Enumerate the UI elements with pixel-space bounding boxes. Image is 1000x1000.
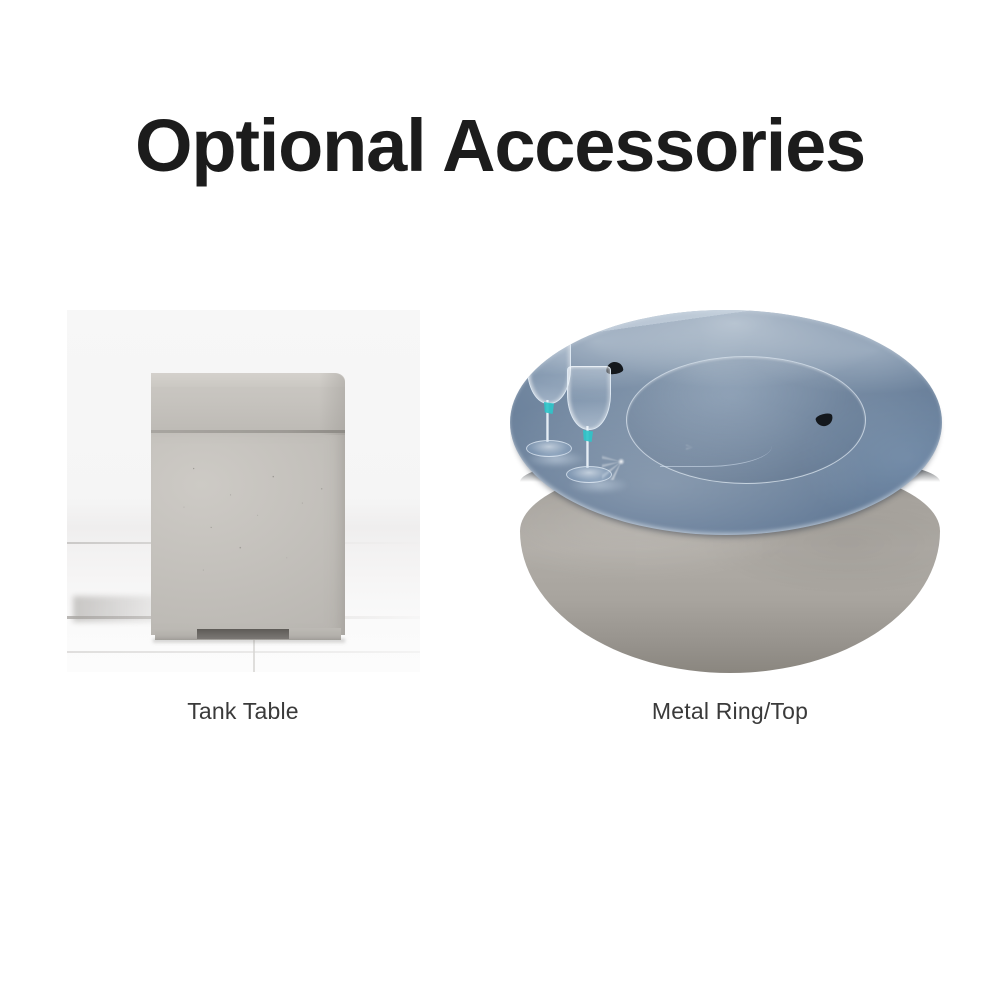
page-title: Optional Accessories xyxy=(0,104,1000,188)
tank-table-lid-bevel xyxy=(319,373,345,435)
floor-seam xyxy=(67,651,420,653)
wine-glass-foot xyxy=(566,466,612,483)
tank-table-body xyxy=(151,432,345,635)
metal-ring-top-product-image[interactable] xyxy=(510,300,950,680)
tank-table-plinth-recess xyxy=(197,629,289,639)
wine-glass-foot xyxy=(526,440,572,457)
metal-ring-top-disc xyxy=(510,310,942,535)
accessories-gallery: Tank Table xyxy=(0,300,1000,760)
concrete-speckle-texture xyxy=(151,432,345,635)
wine-glass-tag xyxy=(583,430,593,442)
tank-table-lid-top-face xyxy=(151,373,345,387)
floor-seam-vertical xyxy=(253,640,255,672)
tank-table-lid-seam xyxy=(151,430,345,433)
tank-table-contact-shadow xyxy=(153,639,345,644)
wine-glass-tag xyxy=(544,402,554,414)
product-caption-metal-ring-top: Metal Ring/Top xyxy=(510,696,950,726)
product-caption-tank-table: Tank Table xyxy=(47,696,439,726)
tank-table-product-image[interactable] xyxy=(67,310,420,672)
